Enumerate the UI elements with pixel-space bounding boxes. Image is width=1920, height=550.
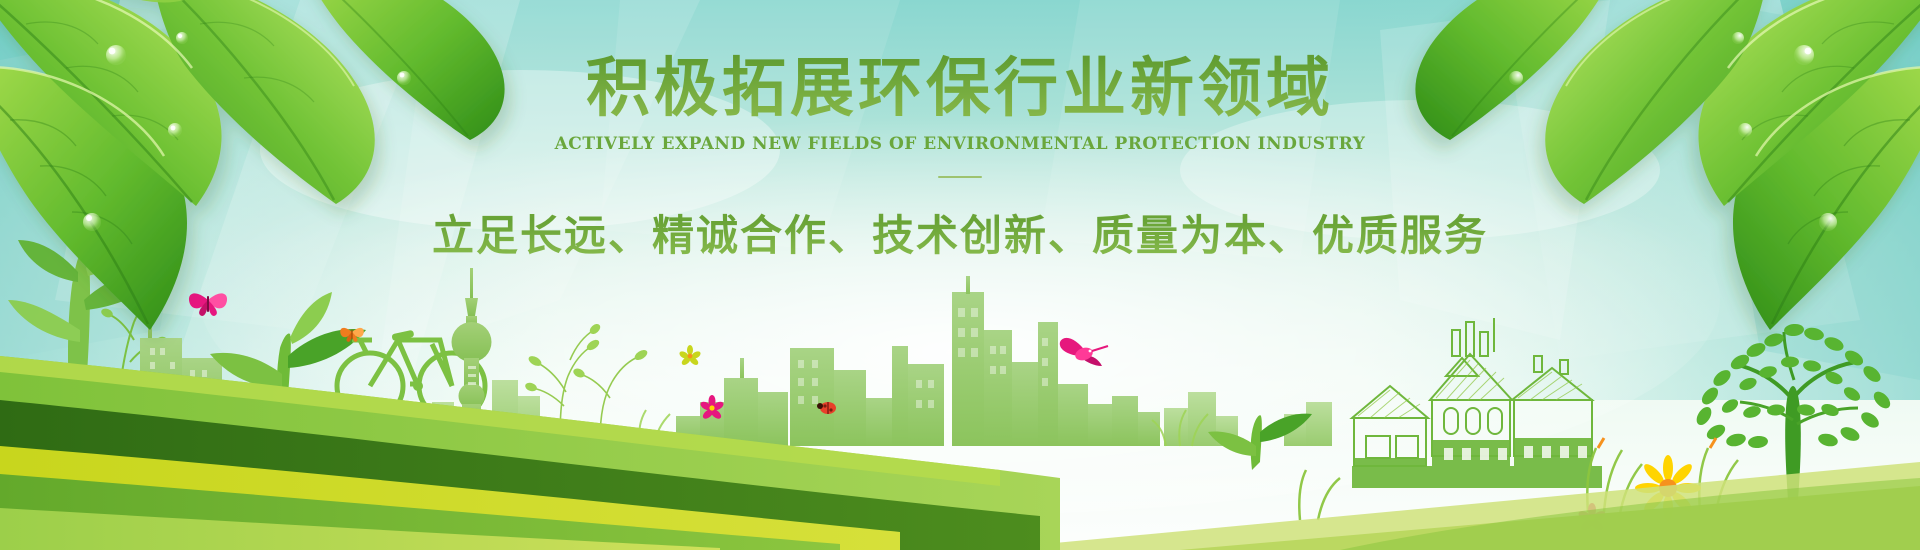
leaf-cluster-icon <box>0 0 505 330</box>
leaf-corners <box>0 0 1920 550</box>
eco-banner: 积极拓展环保行业新领域 ACTIVELY EXPAND NEW FIELDS O… <box>0 0 1920 550</box>
leaf-cluster-icon <box>1415 0 1920 330</box>
